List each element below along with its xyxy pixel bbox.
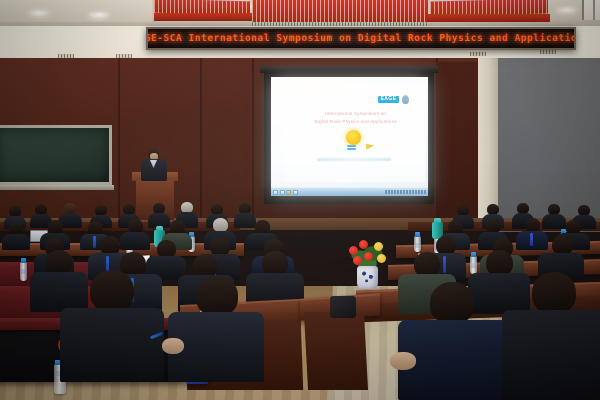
slide-wedge-graphic (365, 142, 374, 149)
ceiling-soffit-left (0, 0, 152, 22)
air-vent-grille (58, 54, 74, 58)
slide-emblem-icon (402, 95, 409, 104)
attendee-head (88, 221, 103, 235)
ceiling-red-slats-center (252, 0, 428, 22)
attendee-head (196, 276, 238, 316)
attendee-head (566, 220, 581, 234)
ceiling-downlight (556, 7, 578, 14)
red-flower (364, 252, 373, 261)
attendee-hand (162, 338, 184, 354)
chalkboard (0, 125, 112, 185)
taskbar-app-icon[interactable] (286, 190, 291, 195)
wall-seam (118, 58, 120, 224)
start-icon[interactable] (273, 190, 278, 195)
taskbar-app-icon[interactable] (280, 190, 285, 195)
desk-row-1-panel-right (304, 312, 368, 390)
attendee-shoulders (60, 308, 164, 382)
conference-hall-photo: EAGE-SCA International Symposium on Digi… (0, 0, 600, 400)
attendee-hand (390, 352, 416, 370)
attendee-head (448, 220, 463, 234)
slide-title: International Symposium on Digital Rock … (303, 110, 408, 127)
red-flower (359, 240, 368, 249)
taskbar-buttons[interactable] (273, 190, 298, 195)
air-vent-grille (540, 50, 556, 54)
attendee-head (170, 220, 185, 234)
wall-seam (252, 58, 254, 224)
attendee-head (255, 220, 270, 234)
slide-bar-graphic (347, 145, 356, 151)
attendee-head (525, 218, 540, 232)
wall-seam (200, 58, 202, 224)
attendee-foreground (60, 270, 164, 382)
attendee-head (128, 219, 143, 233)
attendee-shoulders (2, 234, 30, 250)
chalk-tray (0, 185, 114, 190)
water-bottle (20, 262, 27, 281)
ceiling-downlight (88, 12, 110, 19)
water-bottle (414, 236, 421, 252)
attendee-foreground (502, 272, 600, 400)
ceiling-red-edge-left (154, 13, 252, 21)
slide-title-line-2: Digital Rock Physics and Applications (303, 118, 408, 127)
system-tray[interactable] (385, 190, 426, 194)
ceiling-downlight (28, 10, 50, 17)
floral-arrangement (344, 228, 392, 290)
attendee-head (213, 218, 228, 232)
attendee-head (430, 282, 474, 324)
slide-sun-graphic (346, 130, 361, 145)
slide-logo-text: EAGE (378, 96, 400, 103)
presenter (140, 148, 168, 180)
red-flower (353, 256, 362, 265)
yellow-flower (377, 254, 386, 263)
yellow-flower (374, 242, 383, 251)
conference-lanyard (530, 233, 533, 246)
windows-taskbar[interactable] (271, 187, 428, 196)
slide-title-line-1: International Symposium on (303, 110, 408, 119)
dark-bag (330, 296, 356, 318)
ceiling-red-edge-right (428, 14, 550, 22)
attendee-head (486, 219, 501, 233)
attendee-head (552, 235, 573, 255)
projection-screen-frame: EAGE International Symposium on Digital … (264, 72, 434, 204)
red-flower (349, 246, 358, 255)
presentation-slide: EAGE International Symposium on Digital … (284, 84, 425, 182)
air-vent-grille (116, 54, 132, 58)
attendee (2, 222, 30, 250)
projection-screen: EAGE International Symposium on Digital … (271, 77, 428, 196)
slide-subtext (317, 158, 391, 161)
ceiling-vent-window (582, 0, 600, 20)
air-vent-grille (470, 52, 486, 56)
attendee-head (48, 220, 63, 234)
attendee-head (90, 270, 134, 312)
slide-logo: EAGE (378, 95, 410, 104)
led-banner-text: EAGE-SCA International Symposium on Digi… (146, 33, 576, 44)
flower-vase (357, 266, 378, 289)
attendee-head (532, 272, 576, 314)
led-banner: EAGE-SCA International Symposium on Digi… (146, 27, 576, 50)
taskbar-app-icon[interactable] (293, 190, 298, 195)
attendee-foreground (168, 276, 264, 382)
attendee-shoulders (502, 310, 600, 400)
attendee-foreground (398, 282, 508, 400)
